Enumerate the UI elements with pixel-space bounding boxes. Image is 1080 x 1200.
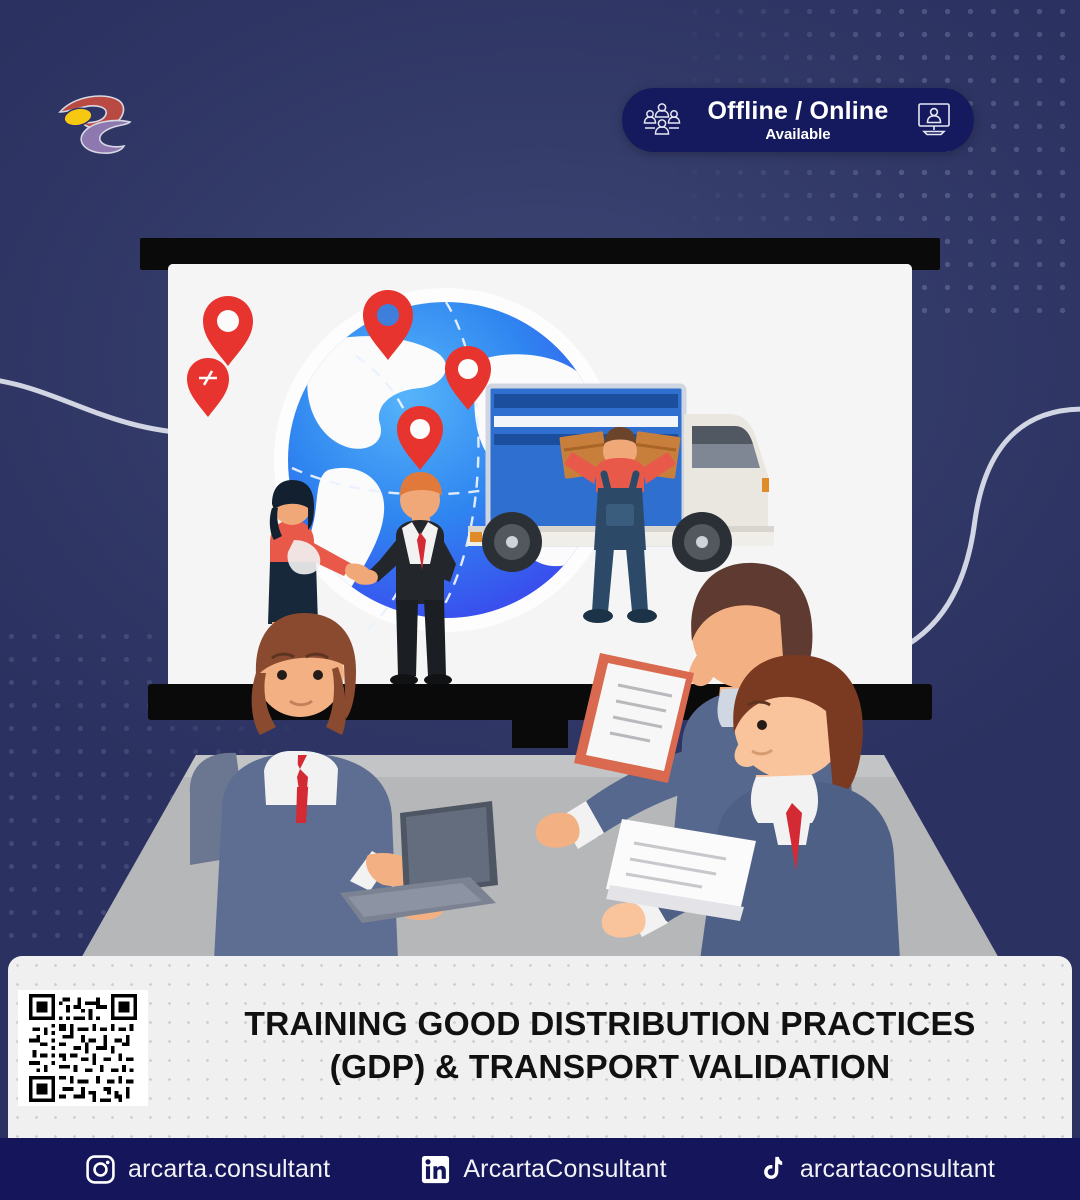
instagram-icon	[85, 1154, 116, 1185]
tiktok-icon	[757, 1154, 788, 1185]
caption-panel: TRAINING GOOD DISTRIBUTION PRACTICES (GD…	[8, 956, 1072, 1138]
group-meeting-icon	[642, 101, 682, 139]
linkedin-icon	[420, 1154, 451, 1185]
arcarta-logo[interactable]	[52, 82, 140, 160]
poster-root: Offline / Online Available	[0, 0, 1080, 1200]
tiktok-handle: arcartaconsultant	[800, 1155, 995, 1184]
social-instagram[interactable]: arcarta.consultant	[85, 1154, 330, 1185]
social-footer: arcarta.consultant ArcartaConsultant arc…	[0, 1138, 1080, 1200]
instagram-handle: arcarta.consultant	[128, 1155, 330, 1184]
availability-badge[interactable]: Offline / Online Available	[622, 88, 974, 152]
qr-code[interactable]	[18, 990, 148, 1106]
online-monitor-icon	[914, 101, 954, 139]
linkedin-handle: ArcartaConsultant	[463, 1155, 667, 1184]
badge-text-block: Offline / Online Available	[682, 98, 914, 143]
badge-title: Offline / Online	[682, 98, 914, 124]
social-linkedin[interactable]: ArcartaConsultant	[420, 1154, 667, 1185]
badge-subtitle: Available	[682, 127, 914, 143]
page-title: TRAINING GOOD DISTRIBUTION PRACTICES (GD…	[188, 1004, 1032, 1090]
audience-scene	[0, 555, 1080, 960]
title-line-1: TRAINING GOOD DISTRIBUTION PRACTICES	[188, 1004, 1032, 1047]
title-line-2: (GDP) & TRANSPORT VALIDATION	[188, 1047, 1032, 1090]
social-tiktok[interactable]: arcartaconsultant	[757, 1154, 995, 1185]
